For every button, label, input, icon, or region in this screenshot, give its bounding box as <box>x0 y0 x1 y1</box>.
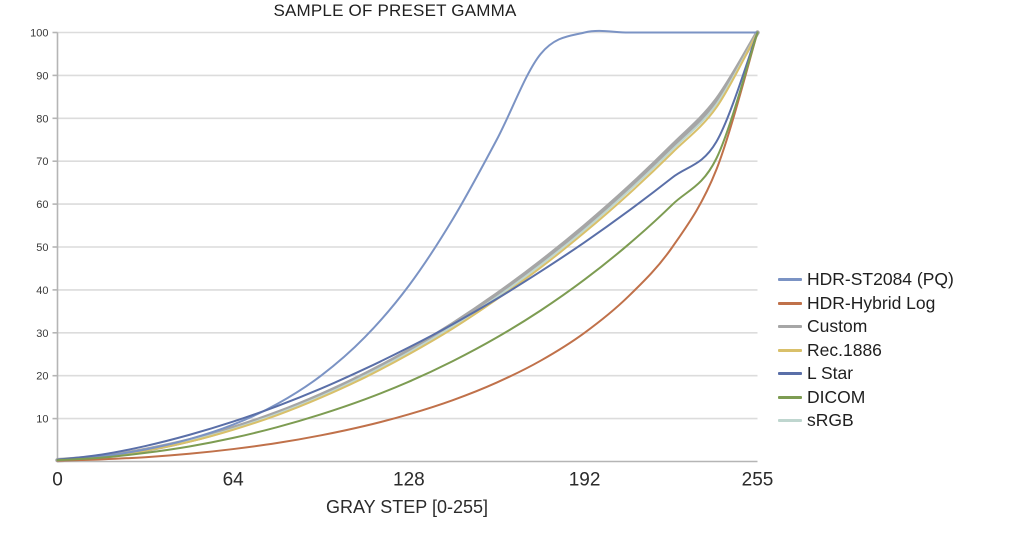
x-axis-label: GRAY STEP [0-255] <box>57 497 757 518</box>
legend-color-swatch-icon <box>778 302 802 305</box>
legend-item-label: Custom <box>807 318 867 336</box>
svg-text:70: 70 <box>36 156 48 168</box>
legend-color-swatch-icon <box>778 349 802 352</box>
legend-item[interactable]: Rec.1886 <box>778 339 1010 363</box>
svg-text:80: 80 <box>36 113 48 125</box>
legend-item[interactable]: sRGB <box>778 409 1010 433</box>
series-line <box>58 31 758 460</box>
svg-text:192: 192 <box>569 470 601 491</box>
legend-item[interactable]: HDR-ST2084 (PQ) <box>778 268 1010 292</box>
gridlines <box>58 33 758 419</box>
legend-item[interactable]: HDR-Hybrid Log <box>778 292 1010 316</box>
svg-text:50: 50 <box>36 242 48 254</box>
legend-color-swatch-icon <box>778 325 802 328</box>
chart-container: SAMPLE OF PRESET GAMMA 10203040506070809… <box>0 0 1010 535</box>
legend-item[interactable]: L Star <box>778 362 1010 386</box>
svg-text:128: 128 <box>393 470 425 491</box>
legend-item-label: L Star <box>807 365 853 383</box>
legend-color-swatch-icon <box>778 396 802 399</box>
svg-text:100: 100 <box>30 28 48 40</box>
legend-item[interactable]: Custom <box>778 315 1010 339</box>
svg-text:90: 90 <box>36 70 48 82</box>
svg-text:60: 60 <box>36 199 48 211</box>
svg-text:0: 0 <box>52 470 63 491</box>
chart-legend: HDR-ST2084 (PQ)HDR-Hybrid LogCustomRec.1… <box>778 268 1010 433</box>
legend-item-label: HDR-ST2084 (PQ) <box>807 271 954 289</box>
x-tick-labels: 064128192255 <box>52 470 773 491</box>
svg-text:10: 10 <box>36 414 48 426</box>
legend-item[interactable]: DICOM <box>778 386 1010 410</box>
legend-item-label: Rec.1886 <box>807 342 882 360</box>
svg-text:64: 64 <box>223 470 245 491</box>
svg-text:255: 255 <box>742 470 774 491</box>
svg-text:20: 20 <box>36 371 48 383</box>
legend-item-label: HDR-Hybrid Log <box>807 295 935 313</box>
legend-item-label: DICOM <box>807 389 865 407</box>
series-line <box>58 33 758 460</box>
svg-text:40: 40 <box>36 285 48 297</box>
legend-item-label: sRGB <box>807 412 854 430</box>
legend-color-swatch-icon <box>778 278 802 281</box>
legend-color-swatch-icon <box>778 419 802 422</box>
y-tick-labels: 102030405060708090100 <box>30 28 48 426</box>
svg-text:30: 30 <box>36 328 48 340</box>
legend-color-swatch-icon <box>778 372 802 375</box>
data-series-curves <box>58 31 758 461</box>
